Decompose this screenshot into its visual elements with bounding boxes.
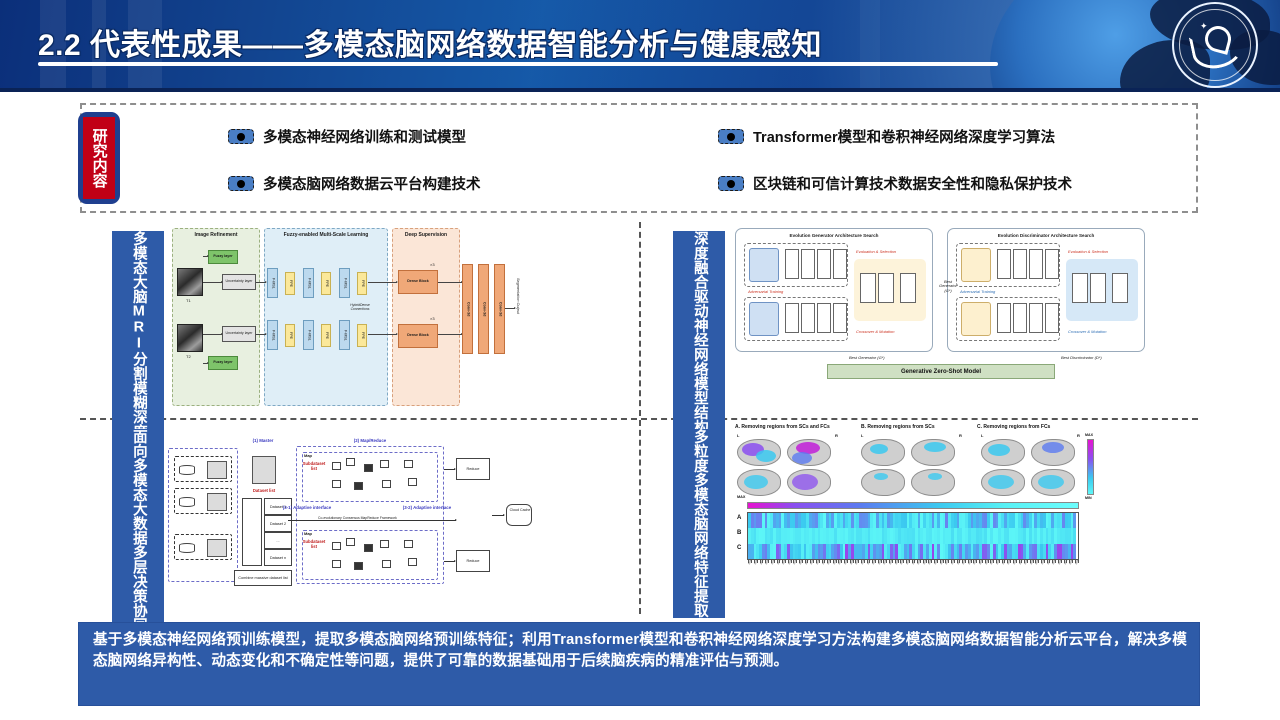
- hybrid-dense-connections-label: HybridDense Connections: [344, 304, 376, 311]
- axis-tick: [976, 560, 977, 563]
- axis-tick: [757, 560, 758, 563]
- zone-title: Fuzzy-enabled Multi-Scale Learning: [265, 232, 387, 238]
- heatmap-row-label-c: C: [737, 545, 741, 551]
- axis-tick: [1027, 560, 1028, 563]
- reduce-node-top: Reduce: [456, 458, 490, 480]
- axis-tick: [836, 560, 837, 563]
- heatmap-cell: [1073, 544, 1076, 559]
- map-task: [332, 462, 341, 470]
- discriminator-group-top: [956, 243, 1060, 287]
- block-fpe: FPE: [321, 324, 331, 347]
- cloud-cache-label: Cloud Cache: [509, 509, 531, 513]
- research-content-tag-inner: 研究内容: [83, 117, 115, 199]
- discriminator-box: [749, 302, 779, 336]
- research-item-label: 多模态神经网络训练和测试模型: [263, 126, 466, 147]
- axis-tick: [988, 560, 989, 563]
- research-content-tag-label: 研究内容: [91, 128, 106, 188]
- generator-card: [817, 249, 831, 279]
- arrow: [203, 282, 222, 283]
- arrow: [368, 282, 397, 283]
- map-task: [382, 480, 391, 488]
- block-conv3d: Conv-3d: [462, 264, 473, 354]
- generator-group-top: [744, 243, 848, 287]
- map-label-top: Map: [304, 453, 312, 458]
- axis-tick: [869, 560, 870, 563]
- discriminator-card: [1029, 249, 1043, 279]
- axis-tick: [768, 560, 769, 563]
- figure-evolution-search: Evolution Generator Architecture Search: [725, 222, 1200, 418]
- colorbar-min-label: MIN: [1085, 496, 1092, 500]
- logo-swoosh-icon: [1192, 26, 1238, 64]
- axis-tick: [819, 560, 820, 563]
- framework-label: Co-evolutionary Consensus MapReduce Fram…: [318, 516, 397, 520]
- quadrant-label-brain: 多粒度多模态脑网络特征提取: [673, 429, 725, 618]
- panel-title-b: B. Removing regions from SCs: [861, 424, 935, 430]
- panel-title-c: C. Removing regions from FCs: [977, 424, 1050, 430]
- map-stage-top: [302, 452, 438, 502]
- client-node-group: [174, 456, 232, 482]
- block-uncertainty-layer-bottom: Uncertainty layer: [222, 326, 256, 342]
- brain-region: [924, 442, 946, 452]
- map-task: [354, 562, 363, 570]
- block-fmsl: F-MSL: [339, 268, 350, 298]
- generator-card: [785, 249, 799, 279]
- arrow: [438, 282, 462, 283]
- axis-tick: [948, 560, 949, 563]
- research-item-label: 多模态脑网络数据云平台构建技术: [263, 173, 481, 194]
- stage-label-evaluation: Evaluation & Selection: [856, 249, 896, 254]
- flow-label-best-generator: Best Generator (G*): [935, 280, 961, 293]
- heatmap-grid: [747, 512, 1079, 560]
- block-fpe: FPE: [285, 272, 295, 295]
- generator-box: [961, 248, 991, 282]
- slide-header: 2.2 代表性成果——多模态脑网络数据智能分析与健康感知 ✦: [0, 0, 1280, 90]
- axis-tick: [914, 560, 915, 563]
- generator-card: [801, 303, 815, 333]
- block-fpe: FPE: [357, 272, 367, 295]
- logo-star-icon: ✦: [1200, 22, 1208, 31]
- axis-tick: [892, 560, 893, 563]
- arrow: [288, 520, 456, 521]
- block-fmsl: F-MSL: [267, 320, 278, 350]
- heatmap-cell: [1073, 513, 1076, 528]
- axis-tick: [841, 560, 842, 563]
- brain-region: [744, 475, 768, 489]
- brain-surface-b1: [861, 439, 905, 466]
- map-task: [408, 558, 417, 566]
- heatmap-axis-ticks: ROIROIROIROIROIROIROIROIROIROIROIROIROIR…: [747, 560, 1079, 586]
- brain-region: [870, 444, 888, 454]
- discriminator-card: [1045, 249, 1059, 279]
- stage-label-adversarial: Adversarial Training: [960, 289, 995, 294]
- reduce-node-bottom: Reduce: [456, 550, 490, 572]
- arrow: [505, 308, 515, 309]
- block-fpe: FPE: [321, 272, 331, 295]
- map-task: [404, 460, 413, 468]
- generator-card: [785, 303, 799, 333]
- selected-discriminator-card: [1072, 273, 1088, 303]
- generator-card: [817, 303, 831, 333]
- subdataset-list-top: Subdataset list: [302, 462, 326, 471]
- axis-tick: [1004, 560, 1005, 563]
- research-content-box: [80, 103, 1198, 213]
- axis-tick: [802, 560, 803, 563]
- map-task: [346, 538, 355, 546]
- discriminator-card: [1013, 303, 1027, 333]
- client-node-icon: [179, 543, 195, 553]
- block-dense-bottom: Dense Block: [398, 324, 438, 348]
- axis-tick: [875, 560, 876, 563]
- brain-region: [756, 450, 776, 462]
- axis-tick: [1061, 560, 1062, 563]
- colorbar-horizontal: [747, 502, 1079, 509]
- dataset-list-label: Dataset list: [240, 488, 288, 493]
- brain-region: [1038, 475, 1064, 489]
- axis-tick: [881, 560, 882, 563]
- quadrant-fusion-network: 深度融合驱动神经网络模型结构图 Evolution Generator Arch…: [641, 222, 1200, 418]
- research-item-2[interactable]: 多模态脑网络数据云平台构建技术: [228, 173, 481, 194]
- axis-tick: [1078, 560, 1079, 563]
- generator-card: [833, 249, 847, 279]
- selected-generator-card: [900, 273, 916, 303]
- map-task: [364, 544, 373, 552]
- brain-region: [1042, 442, 1064, 453]
- axis-tick: [1016, 560, 1017, 563]
- map-task: [408, 478, 417, 486]
- selection-pool: [1066, 259, 1138, 321]
- axis-tick: [999, 560, 1000, 563]
- discriminator-card: [1045, 303, 1059, 333]
- conclusion-box: 基于多模态神经网络预训练模型，提取多模态脑网络预训练特征；利用Transform…: [78, 622, 1200, 706]
- map-task: [364, 464, 373, 472]
- axis-tick: [982, 560, 983, 563]
- master-server-icon: [252, 456, 276, 484]
- heatmap-row-label-b: B: [737, 530, 741, 536]
- university-logo: ✦: [1172, 2, 1258, 88]
- page-title: 2.2 代表性成果——多模态脑网络数据智能分析与健康感知: [38, 20, 1038, 64]
- map-task: [380, 540, 389, 548]
- stage-label-mapreduce: (2) Map/Reduce: [296, 438, 444, 443]
- heatmap-cell: [1073, 528, 1076, 543]
- axis-tick: [1021, 560, 1022, 563]
- client-node-icon: [179, 465, 195, 475]
- selected-generator-card: [860, 273, 876, 303]
- quadrant-mri-segmentation: 多模态大脑MRI分割模糊深度学习结构 Image Refinement Fuzz…: [80, 222, 639, 418]
- map-task: [404, 540, 413, 548]
- map-task: [332, 480, 341, 488]
- bullet-dot-icon: [228, 129, 254, 144]
- block-dense-top: Dense Block: [398, 270, 438, 294]
- stage-label-adaptive-2: (3-2) Adaptive interface: [396, 506, 458, 511]
- mri-input-t1: [177, 268, 203, 296]
- conclusion-text: 基于多模态神经网络预训练模型，提取多模态脑网络预训练特征；利用Transform…: [93, 630, 1187, 671]
- arrow: [256, 334, 266, 335]
- dataset-stack: [242, 498, 262, 566]
- client-node-group: [174, 488, 232, 514]
- server-icon: [207, 461, 227, 479]
- quadrant-label-fusion: 深度融合驱动神经网络模型结构图: [673, 231, 725, 449]
- generator-card: [833, 303, 847, 333]
- arrow: [203, 363, 208, 364]
- panel-title: Evolution Generator Architecture Search: [736, 233, 932, 238]
- block-fmsl: F-MSL: [267, 268, 278, 298]
- zone-deep-supervision: Deep Supervision: [392, 228, 460, 406]
- segmentation-output-label: Segmentation Output: [516, 278, 520, 314]
- server-icon: [207, 493, 227, 511]
- header-divider: [0, 88, 1280, 92]
- research-item-label: 区块链和可信计算技术数据安全性和隐私保护技术: [753, 173, 1072, 194]
- title-underline: [38, 62, 998, 66]
- block-conv3d: Conv-3d: [494, 264, 505, 354]
- axis-tick: [1044, 560, 1045, 563]
- block-fmsl: F-MSL: [303, 320, 314, 350]
- stage-label-evaluation: Evaluation & Selection: [1068, 249, 1108, 254]
- client-node-icon: [179, 497, 195, 507]
- stage-label-crossover: Crossover & Mutation: [1068, 329, 1106, 334]
- generator-box: [961, 302, 991, 336]
- block-fuzzy-layer-bottom: Fuzzy layer: [208, 356, 238, 370]
- block-fuzzy-layer-top: Fuzzy layer: [208, 250, 238, 264]
- axis-tick: [1055, 560, 1056, 563]
- arrow: [492, 515, 504, 516]
- generator-group-bottom: [744, 297, 848, 341]
- brain-surface-c3: [981, 469, 1025, 496]
- research-content-tag: 研究内容: [78, 112, 120, 204]
- arrow: [368, 334, 397, 335]
- selected-discriminator-card: [1112, 273, 1128, 303]
- quadrant-brain-features: 多粒度多模态脑网络特征提取 A. Removing regions from S…: [641, 420, 1200, 616]
- axis-tick: [931, 560, 932, 563]
- brain-surface-b4: [911, 469, 955, 496]
- block-fpe: FPE: [285, 324, 295, 347]
- zone-fuzzy-multiscale: Fuzzy-enabled Multi-Scale Learning: [264, 228, 388, 406]
- zone-title: Deep Supervision: [393, 232, 459, 238]
- research-item-1[interactable]: 多模态神经网络训练和测试模型: [228, 126, 466, 147]
- selected-discriminator-card: [1090, 273, 1106, 303]
- hemisphere-label-l: L: [861, 433, 863, 438]
- stage-label-crossover: Crossover & Mutation: [856, 329, 894, 334]
- brain-surface-c2: [1031, 439, 1075, 466]
- discriminator-card: [997, 303, 1011, 333]
- axis-tick: [847, 560, 848, 563]
- brain-surface-b3: [861, 469, 905, 496]
- generative-zero-shot-model: Generative Zero-Shot Model: [827, 364, 1055, 379]
- axis-tick: [1072, 560, 1073, 563]
- map-task: [332, 542, 341, 550]
- axis-tick: [920, 560, 921, 563]
- stage-label-adversarial: Adversarial Training: [748, 289, 783, 294]
- map-task: [332, 560, 341, 568]
- map-stage-bottom: [302, 530, 438, 580]
- generator-card: [801, 249, 815, 279]
- discriminator-card: [997, 249, 1011, 279]
- arrow: [438, 334, 462, 335]
- arrow: [203, 256, 208, 257]
- axis-tick: [830, 560, 831, 563]
- axis-tick: [926, 560, 927, 563]
- quadrant-label-text: 深度融合驱动神经网络模型结构图: [691, 231, 707, 449]
- axis-tick: [903, 560, 904, 563]
- figure-mapreduce: (1) Master Dataset list Dataset 1 Datase…: [164, 420, 639, 616]
- arrow: [444, 561, 455, 562]
- axis-tick: [796, 560, 797, 563]
- axis-tick: [1066, 560, 1067, 563]
- brain-surface-a3: [737, 469, 781, 496]
- brain-region: [988, 444, 1010, 456]
- hemisphere-label-r: R: [835, 433, 838, 438]
- axis-tick: [1049, 560, 1050, 563]
- brain-surface-c4: [1031, 469, 1075, 496]
- brain-surface-a4: [787, 469, 831, 496]
- panel-title: Evolution Discriminator Architecture Sea…: [948, 233, 1144, 238]
- dataset-entry: Dataset 2: [264, 515, 292, 532]
- map-task: [382, 560, 391, 568]
- panel-discriminator-search: Evolution Discriminator Architecture Sea…: [947, 228, 1145, 352]
- heatmap-row-label-a: A: [737, 515, 741, 521]
- brain-region: [874, 473, 888, 480]
- arrow: [444, 469, 455, 470]
- axis-tick: [937, 560, 938, 563]
- axis-tick: [779, 560, 780, 563]
- axis-tick: [971, 560, 972, 563]
- bullet-dot-icon: [718, 129, 744, 144]
- client-node-group: [174, 534, 232, 560]
- axis-tick: [807, 560, 808, 563]
- flow-label-best-discriminator: Best Discriminator (D*): [1061, 355, 1102, 360]
- axis-tick: [751, 560, 752, 563]
- brain-surface-a2: [787, 439, 831, 466]
- axis-tick: [943, 560, 944, 563]
- discriminator-box: [749, 248, 779, 282]
- axis-tick: [1033, 560, 1034, 563]
- quadrant-mapreduce: 面向多模态大数据多层决策协同优化: [80, 420, 639, 616]
- block-fpe: FPE: [357, 324, 367, 347]
- brain-region: [792, 452, 812, 464]
- research-item-label: Transformer模型和卷积神经网络深度学习算法: [753, 126, 1055, 147]
- axis-tick: [864, 560, 865, 563]
- research-item-3[interactable]: Transformer模型和卷积神经网络深度学习算法: [718, 126, 1055, 147]
- brain-surface-b2: [911, 439, 955, 466]
- brain-surface-a1: [737, 439, 781, 466]
- axis-tick: [954, 560, 955, 563]
- quadrant-label-text: 多粒度多模态脑网络特征提取: [691, 429, 707, 618]
- zone-title: Image Refinement: [173, 232, 259, 238]
- selected-generator-card: [878, 273, 894, 303]
- bullet-dot-icon: [718, 176, 744, 191]
- axis-tick: [1038, 560, 1039, 563]
- selection-pool: [854, 259, 926, 321]
- server-icon: [207, 539, 227, 557]
- axis-tick: [791, 560, 792, 563]
- colorbar-max-label: MAX: [1085, 433, 1093, 437]
- block-conv3d: Conv-3d: [478, 264, 489, 354]
- block-fmsl: F-MSL: [339, 320, 350, 350]
- arrow: [256, 282, 266, 283]
- axis-tick: [886, 560, 887, 563]
- map-task: [354, 482, 363, 490]
- discriminator-group-bottom: [956, 297, 1060, 341]
- stage-label-master: (1) Master: [240, 438, 286, 443]
- bullet-dot-icon: [228, 176, 254, 191]
- hemisphere-label-l: L: [981, 433, 983, 438]
- brain-surface-c1: [981, 439, 1025, 466]
- combine-dataset-list: Combine massive dataset list: [234, 570, 292, 586]
- dataset-entry: ...: [264, 532, 292, 549]
- figure-brain-heatmap: A. Removing regions from SCs and FCs B. …: [725, 420, 1200, 616]
- dense-repeat-top: ×3: [430, 262, 435, 267]
- map-label-bottom: Map: [304, 531, 312, 536]
- subdataset-list-bottom: Subdataset list: [302, 540, 326, 549]
- mapreduce-diagram: (1) Master Dataset list Dataset 1 Datase…: [168, 424, 633, 612]
- hemisphere-label-r: R: [959, 433, 962, 438]
- research-item-4[interactable]: 区块链和可信计算技术数据安全性和隐私保护技术: [718, 173, 1072, 194]
- evolution-search-diagram: Evolution Generator Architecture Search: [731, 224, 1190, 414]
- stage-label-adaptive-1: (3-1) Adaptive interface: [276, 506, 338, 511]
- axis-tick: [965, 560, 966, 563]
- slide-root: 2.2 代表性成果——多模态脑网络数据智能分析与健康感知 ✦ 研究内容 多模态神…: [0, 0, 1280, 720]
- axis-tick: [858, 560, 859, 563]
- hemisphere-label-r: R: [1077, 433, 1080, 438]
- brain-heatmap-diagram: A. Removing regions from SCs and FCs B. …: [731, 423, 1188, 614]
- axis-tick: [909, 560, 910, 563]
- map-task: [346, 458, 355, 466]
- axis-tick: [993, 560, 994, 563]
- axis-tick: [853, 560, 854, 563]
- axis-tick: [898, 560, 899, 563]
- arrow: [203, 334, 222, 335]
- dataset-entry: Dataset n: [264, 549, 292, 566]
- figure-grid: 多模态大脑MRI分割模糊深度学习结构 Image Refinement Fuzz…: [80, 222, 1198, 614]
- axis-tick: [959, 560, 960, 563]
- brain-region: [792, 474, 818, 490]
- heatmap-column: [1073, 513, 1076, 559]
- colorbar-vertical: [1087, 439, 1094, 495]
- dense-repeat-bottom: ×3: [430, 316, 435, 321]
- axis-tick: [774, 560, 775, 563]
- brain-region: [928, 473, 942, 480]
- axis-tick: [1010, 560, 1011, 563]
- mri-architecture-diagram: Image Refinement Fuzzy-enabled Multi-Sca…: [172, 226, 635, 412]
- flow-label-best-generator-down: Best Generator (G*): [849, 355, 885, 360]
- discriminator-card: [1029, 303, 1043, 333]
- block-fmsl: F-MSL: [303, 268, 314, 298]
- brain-region: [988, 475, 1014, 489]
- discriminator-card: [1013, 249, 1027, 279]
- hemisphere-label-l: L: [737, 433, 739, 438]
- mri-input-t2: [177, 324, 203, 352]
- mri-input-t2-label: T2: [186, 354, 191, 359]
- panel-generator-search: Evolution Generator Architecture Search: [735, 228, 933, 352]
- figure-mri-architecture: Image Refinement Fuzzy-enabled Multi-Sca…: [164, 222, 639, 418]
- mri-input-t1-label: T1: [186, 298, 191, 303]
- panel-title-a: A. Removing regions from SCs and FCs: [735, 424, 830, 430]
- axis-tick: [785, 560, 786, 563]
- block-uncertainty-layer-top: Uncertainty layer: [222, 274, 256, 290]
- axis-tick: [824, 560, 825, 563]
- axis-tick: [762, 560, 763, 563]
- map-task: [380, 460, 389, 468]
- heatmap-max-label: MAX: [737, 495, 745, 499]
- axis-tick: [813, 560, 814, 563]
